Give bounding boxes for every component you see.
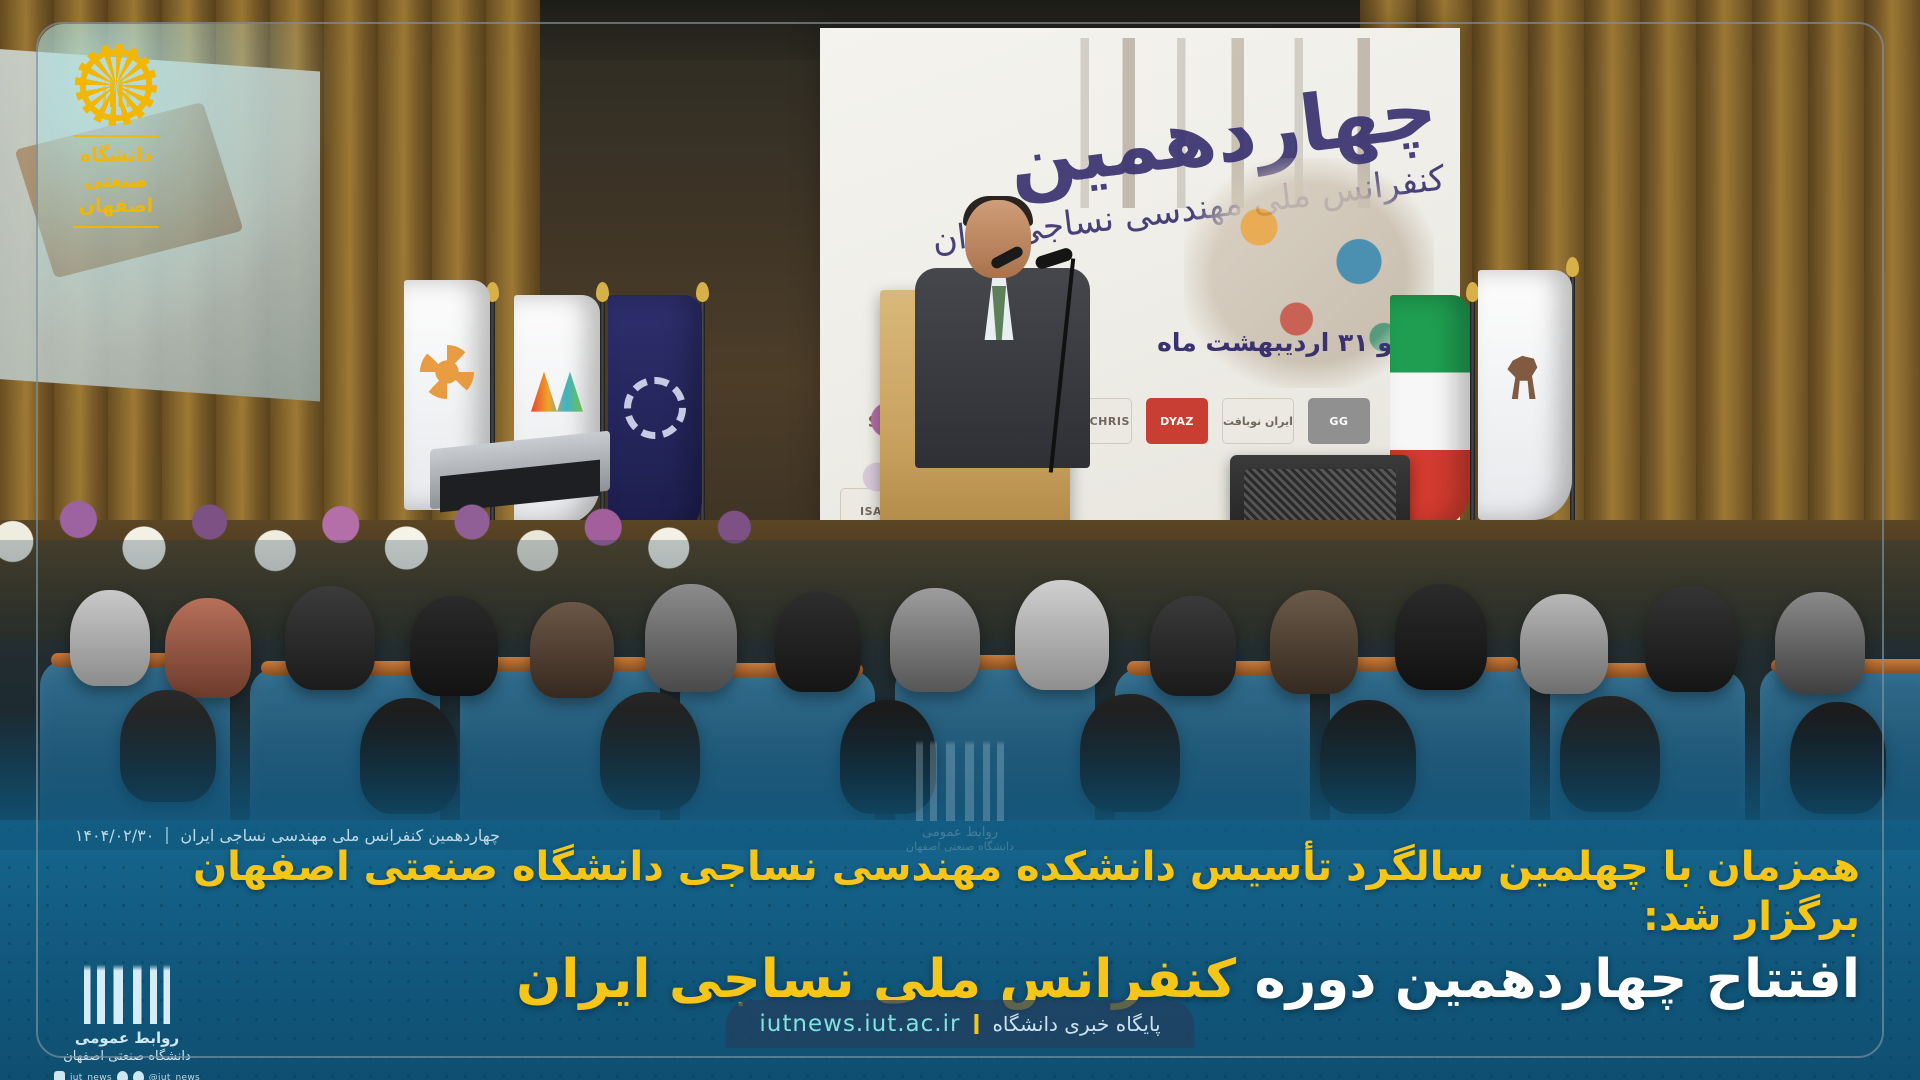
audience-member <box>1520 594 1608 694</box>
footer-url[interactable]: iutnews.iut.ac.ir <box>759 1011 960 1037</box>
social-links: iut_news @iut_news <box>54 1071 200 1080</box>
sponsor-logo: ایران نوبافت <box>1222 398 1294 444</box>
sponsor-logo: DYAZ <box>1146 398 1208 444</box>
headline-main-white: افتتاح چهاردهمین دوره <box>1255 949 1861 1010</box>
telegram-icon[interactable] <box>117 1071 128 1080</box>
sponsor-logo: GG <box>1308 398 1370 444</box>
audience-member <box>890 588 980 692</box>
instagram-icon[interactable] <box>54 1071 65 1080</box>
university-name-line1: دانشگاه <box>56 143 176 169</box>
university-name-line3: اصفهان <box>56 194 176 220</box>
footer-separator <box>974 1014 978 1034</box>
audience-member <box>1150 596 1236 696</box>
iut-towers-icon <box>910 735 1010 821</box>
instagram-handle[interactable]: iut_news <box>70 1073 112 1080</box>
audience-member <box>1645 586 1737 692</box>
audience-member <box>165 598 251 698</box>
watermark-line1: روابط عمومی <box>900 825 1020 840</box>
university-logo: دانشگاه صنعتی اصفهان <box>56 44 176 228</box>
audience-member <box>1270 590 1358 694</box>
audience-member <box>410 596 498 696</box>
audience-member <box>1015 580 1109 690</box>
audience-member <box>1775 592 1865 694</box>
audience-member <box>285 586 375 690</box>
pr-line2: دانشگاه صنعتی اصفهان <box>54 1049 200 1064</box>
public-relations-logo: روابط عمومی دانشگاه صنعتی اصفهان iut_new… <box>54 962 200 1080</box>
telegram-handle[interactable]: @iut_news <box>149 1073 200 1080</box>
audience-member <box>70 590 150 686</box>
audience-member <box>1395 584 1487 690</box>
headline-kicker: همزمان با چهلمین سالگرد تأسیس دانشکده مه… <box>60 842 1860 942</box>
divider <box>73 135 159 137</box>
footer-label: پایگاه خبری دانشگاه <box>992 1012 1160 1036</box>
whatsapp-icon[interactable] <box>133 1071 144 1080</box>
audience-member <box>530 602 614 698</box>
headline-block: همزمان با چهلمین سالگرد تأسیس دانشکده مه… <box>60 842 1860 1012</box>
iut-towers-icon <box>79 962 175 1024</box>
university-name-line2: صنعتی <box>56 169 176 195</box>
audience-member <box>645 584 737 692</box>
news-banner-image: چهاردهمین کنفرانس ملی مهندسی نساجی ایران… <box>0 0 1920 1080</box>
audience-member <box>775 592 861 692</box>
pr-line1: روابط عمومی <box>54 1029 200 1047</box>
divider <box>73 226 159 228</box>
footer-site-link[interactable]: پایگاه خبری دانشگاه iutnews.iut.ac.ir <box>725 1000 1194 1048</box>
iut-seal-icon <box>75 44 157 126</box>
